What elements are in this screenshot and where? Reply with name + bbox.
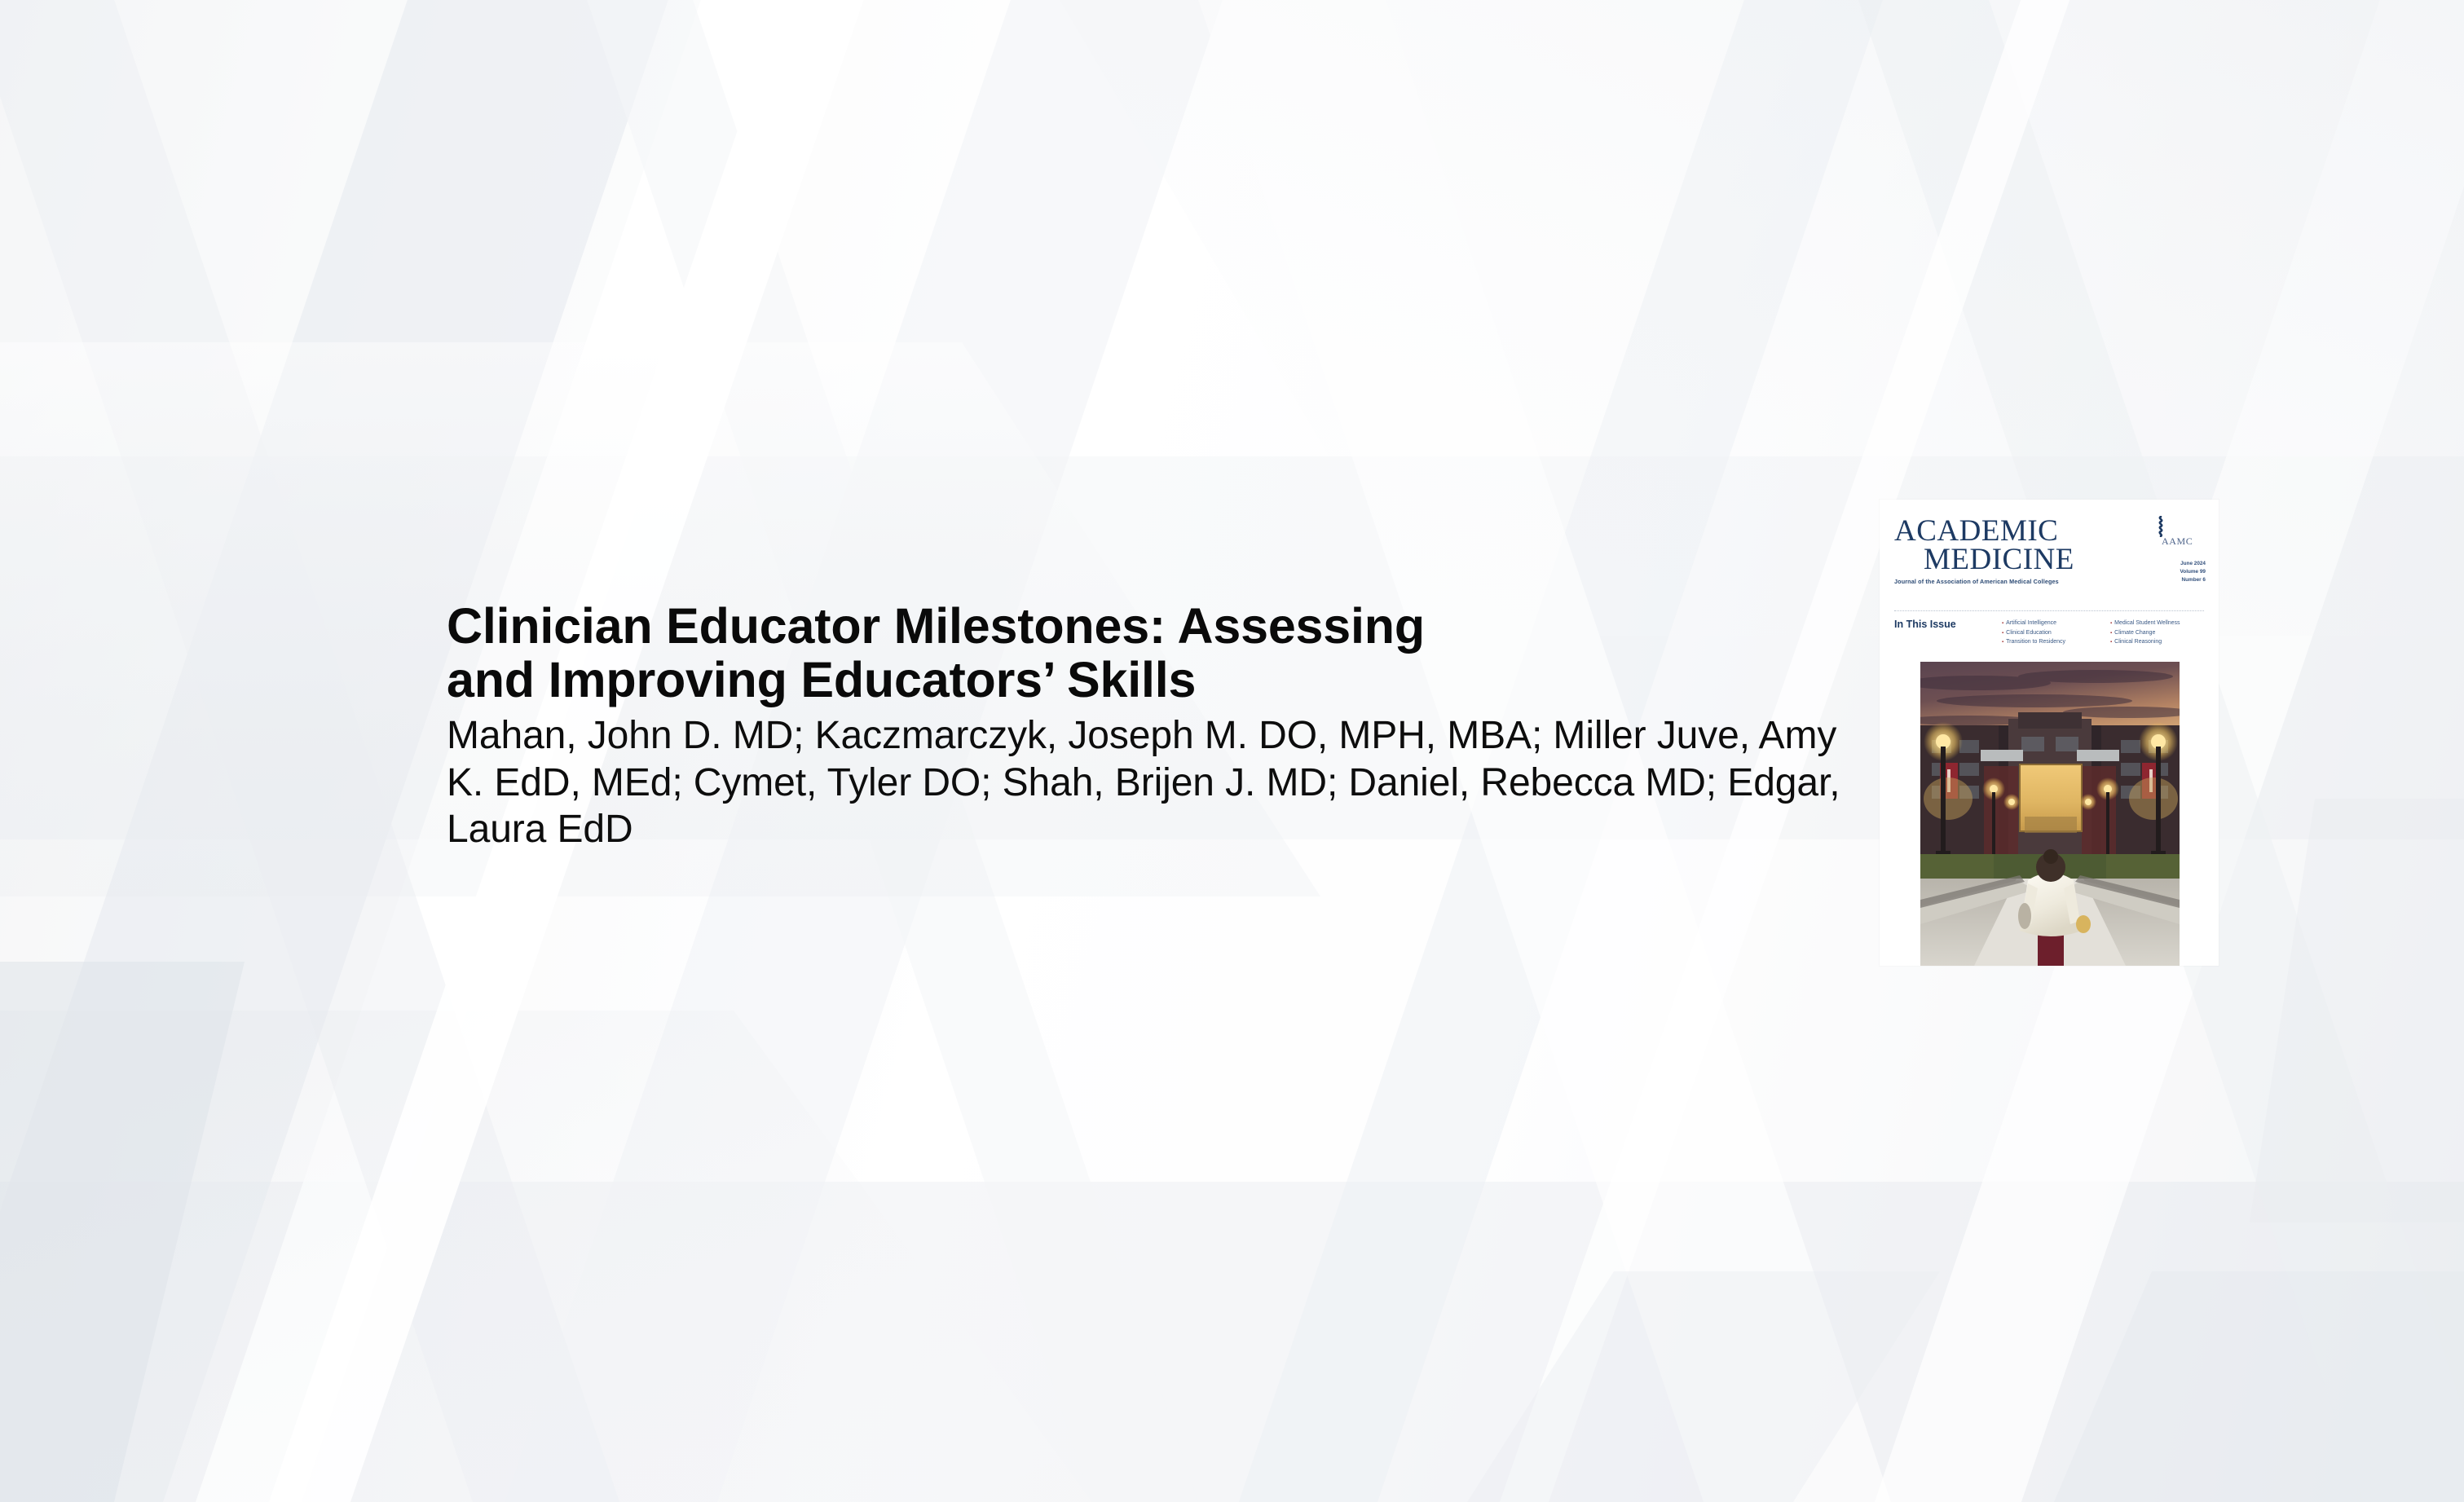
cover-masthead: ACADEMIC MEDICINE Journal of the Associa… <box>1880 500 2219 604</box>
topic-item: Artificial Intelligence <box>2002 619 2099 628</box>
issue-date: June 2024 <box>2180 560 2206 568</box>
journal-subtitle: Journal of the Association of American M… <box>1894 578 2204 585</box>
topic-item: Transition to Residency <box>2002 637 2099 647</box>
cover-artwork <box>1920 662 2180 966</box>
journal-name-line-2: MEDICINE <box>1894 545 2204 574</box>
topic-item: Climate Change <box>2110 628 2207 638</box>
page-title: Clinician Educator Milestones: Assessing… <box>447 599 1857 707</box>
topic-item: Clinical Education <box>2002 628 2099 638</box>
cover-artwork-illustration <box>1920 662 2180 966</box>
aamc-logo: AAMC <box>2155 516 2206 548</box>
topic-item: Medical Student Wellness <box>2110 619 2207 628</box>
presentation-slide: Clinician Educator Milestones: Assessing… <box>0 0 2464 1502</box>
slide-text-block: Clinician Educator Milestones: Assessing… <box>447 599 1857 853</box>
author-list: Mahan, John D. MD; Kaczmarczyk, Joseph M… <box>447 712 1857 853</box>
aamc-caduceus-icon <box>2155 516 2166 537</box>
issue-number: Number 6 <box>2180 576 2206 584</box>
topic-item: Clinical Reasoning <box>2110 637 2207 647</box>
aamc-wordmark: AAMC <box>2162 535 2206 548</box>
cover-issue-meta: June 2024 Volume 99 Number 6 <box>2180 560 2206 584</box>
journal-cover-image: ACADEMIC MEDICINE Journal of the Associa… <box>1880 500 2219 966</box>
topics-column-right: Medical Student Wellness Climate Change … <box>2110 619 2207 647</box>
in-this-issue-label: In This Issue <box>1894 619 2002 630</box>
issue-volume: Volume 99 <box>2180 568 2206 576</box>
topics-column-left: Artificial Intelligence Clinical Educati… <box>2002 619 2099 647</box>
in-this-issue-section: In This Issue Artificial Intelligence Cl… <box>1880 611 2219 650</box>
